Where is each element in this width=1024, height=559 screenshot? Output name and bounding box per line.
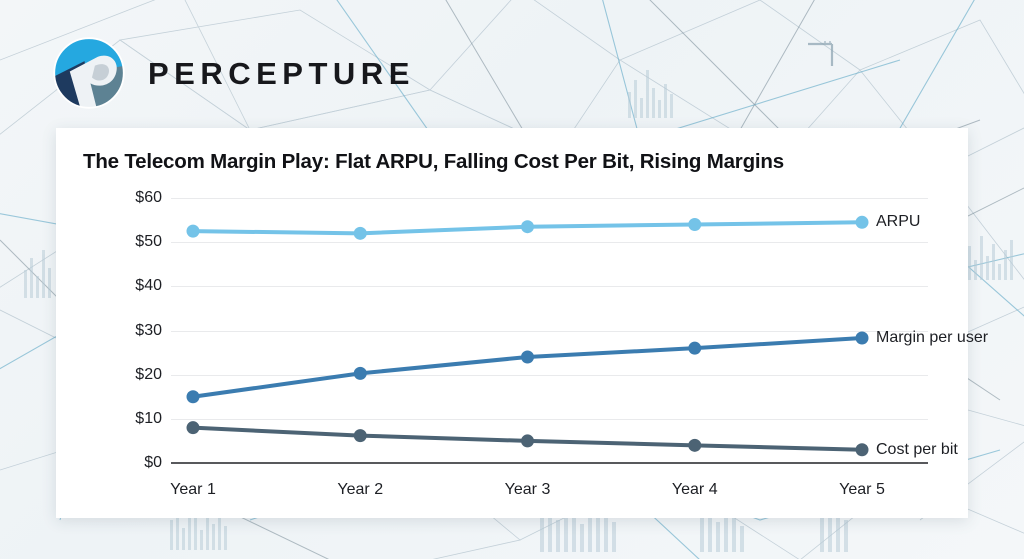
data-point-marker[interactable]	[521, 434, 534, 447]
plot-area: $0$10$20$30$40$50$60 Year 1Year 2Year 3Y…	[56, 128, 968, 518]
chart-card: The Telecom Margin Play: Flat ARPU, Fall…	[56, 128, 968, 518]
data-point-marker[interactable]	[856, 332, 869, 345]
series-lines	[56, 128, 968, 518]
data-point-marker[interactable]	[354, 429, 367, 442]
series-label: Margin per user	[876, 329, 988, 347]
data-point-marker[interactable]	[354, 227, 367, 240]
data-point-marker[interactable]	[688, 439, 701, 452]
data-point-marker[interactable]	[688, 218, 701, 231]
data-point-marker[interactable]	[187, 390, 200, 403]
data-point-marker[interactable]	[856, 443, 869, 456]
series-label: Cost per bit	[876, 441, 958, 459]
data-point-marker[interactable]	[688, 342, 701, 355]
brand-name: PERCEPTURE	[148, 58, 415, 89]
data-point-marker[interactable]	[856, 216, 869, 229]
series-line	[193, 338, 862, 397]
perceptura-circle-p-logo-icon	[52, 36, 126, 110]
data-point-marker[interactable]	[187, 421, 200, 434]
data-point-marker[interactable]	[187, 225, 200, 238]
brand-header: PERCEPTURE	[52, 36, 415, 110]
data-point-marker[interactable]	[521, 351, 534, 364]
series-label: ARPU	[876, 213, 920, 231]
page-root: PERCEPTURE The Telecom Margin Play: Flat…	[0, 0, 1024, 559]
data-point-marker[interactable]	[521, 220, 534, 233]
data-point-marker[interactable]	[354, 367, 367, 380]
